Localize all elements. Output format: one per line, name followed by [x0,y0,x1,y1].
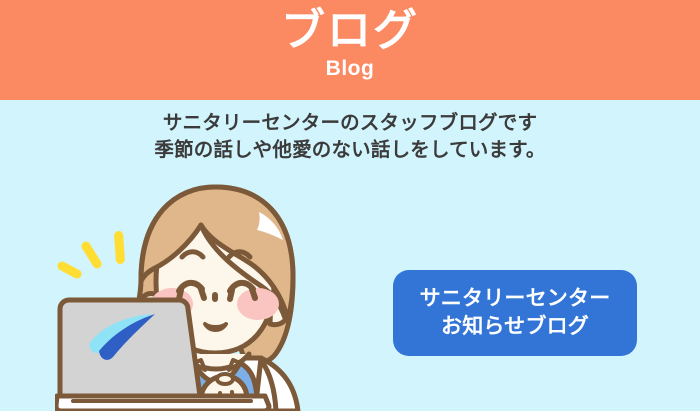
sparkle-icon [56,231,125,280]
blush-right [237,288,279,320]
description-line-2: 季節の話しや他愛のない話しをしています。 [0,137,700,164]
header-banner: ブログ Blog [0,0,700,100]
woman-using-laptop-illustration [55,178,355,411]
blog-banner-page: ブログ Blog サニタリーセンターのスタッフブログです 季節の話しや他愛のない… [0,0,700,411]
blog-link-button-line-2: お知らせブログ [441,313,589,341]
description-text: サニタリーセンターのスタッフブログです 季節の話しや他愛のない話しをしています。 [0,110,700,164]
blog-link-button-line-1: サニタリーセンター [420,285,611,313]
page-subtitle: Blog [326,56,375,82]
description-line-1: サニタリーセンターのスタッフブログです [0,110,700,137]
blog-link-button[interactable]: サニタリーセンター お知らせブログ [393,270,637,356]
page-title: ブログ [281,6,419,56]
